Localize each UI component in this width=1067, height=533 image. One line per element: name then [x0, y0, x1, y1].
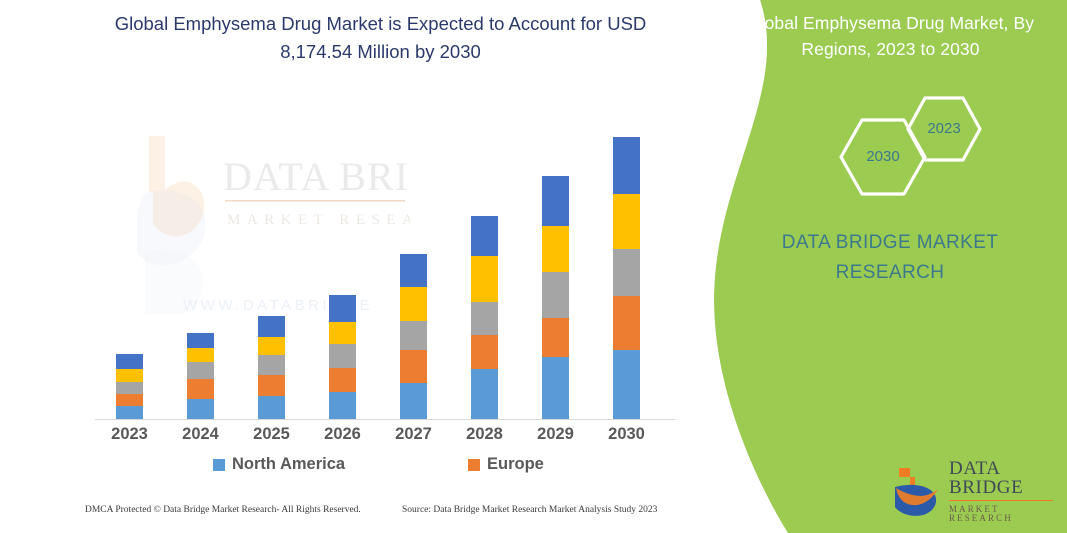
- bar-segment-2025-europe: [258, 375, 285, 396]
- data-bridge-b-icon: [893, 465, 945, 517]
- bar-2024[interactable]: [187, 333, 214, 419]
- bar-segment-2028-series-5: [471, 216, 498, 256]
- bar-segment-2028-series-4: [471, 256, 498, 301]
- bar-segment-2026-europe: [329, 368, 356, 392]
- page-title: Global Emphysema Drug Market is Expected…: [88, 10, 673, 66]
- hexagon-group: 2023 2030: [810, 95, 1030, 210]
- legend-item-europe[interactable]: Europe: [468, 455, 544, 474]
- bar-2029[interactable]: [542, 176, 569, 419]
- bar-2030[interactable]: [613, 137, 640, 419]
- x-axis-label-2028: 2028: [455, 425, 515, 444]
- bar-segment-2024-series-3: [187, 362, 214, 379]
- legend-label-north-america: North America: [232, 455, 345, 474]
- bar-2023[interactable]: [116, 354, 143, 419]
- bar-segment-2030-series-5: [613, 137, 640, 194]
- chart-plot-area: [95, 120, 675, 420]
- chart-legend: North America Europe: [95, 455, 675, 481]
- panel-brand-text: DATA BRIDGE MARKET RESEARCH: [735, 228, 1045, 288]
- bar-segment-2025-series-3: [258, 355, 285, 375]
- x-axis-line: [95, 419, 675, 420]
- data-bridge-logo: DATA BRIDGE MARKET RESEARCH: [893, 462, 1053, 520]
- bar-segment-2028-europe: [471, 335, 498, 369]
- footer-copyright: DMCA Protected © Data Bridge Market Rese…: [85, 505, 361, 515]
- bar-segment-2025-north-america: [258, 396, 285, 419]
- bar-2027[interactable]: [400, 254, 427, 419]
- hexagon-2030: 2030: [838, 117, 928, 197]
- x-axis-label-2023: 2023: [100, 425, 160, 444]
- bar-segment-2029-series-3: [542, 272, 569, 318]
- bar-segment-2029-europe: [542, 318, 569, 357]
- bar-segment-2027-north-america: [400, 383, 427, 419]
- hexagon-2030-label: 2030: [838, 148, 928, 165]
- stacked-bar-chart: [95, 120, 675, 420]
- bar-segment-2028-series-3: [471, 302, 498, 335]
- bar-segment-2030-north-america: [613, 350, 640, 419]
- x-axis-label-2030: 2030: [597, 425, 657, 444]
- bar-segment-2027-series-4: [400, 287, 427, 321]
- bar-segment-2030-series-3: [613, 249, 640, 295]
- x-axis-label-2025: 2025: [242, 425, 302, 444]
- bar-segment-2026-north-america: [329, 392, 356, 419]
- side-panel: Global Emphysema Drug Market, By Regions…: [700, 0, 1067, 533]
- bar-segment-2026-series-4: [329, 322, 356, 344]
- bar-segment-2029-series-4: [542, 226, 569, 271]
- bar-segment-2023-north-america: [116, 406, 143, 419]
- footer: DMCA Protected © Data Bridge Market Rese…: [0, 505, 700, 529]
- logo-line-2: MARKET RESEARCH: [949, 505, 1053, 523]
- panel-title: Global Emphysema Drug Market, By Regions…: [728, 10, 1053, 62]
- bar-segment-2024-europe: [187, 379, 214, 399]
- legend-label-europe: Europe: [487, 455, 544, 474]
- bar-segment-2024-series-5: [187, 333, 214, 348]
- bar-segment-2029-north-america: [542, 357, 569, 419]
- x-axis-label-2027: 2027: [384, 425, 444, 444]
- bar-segment-2023-series-4: [116, 369, 143, 382]
- bar-2025[interactable]: [258, 316, 285, 419]
- bar-segment-2025-series-4: [258, 337, 285, 355]
- bar-2026[interactable]: [329, 295, 356, 419]
- bar-segment-2027-europe: [400, 350, 427, 383]
- bar-segment-2023-series-3: [116, 382, 143, 394]
- footer-source: Source: Data Bridge Market Research Mark…: [402, 505, 657, 515]
- bar-segment-2030-europe: [613, 296, 640, 350]
- legend-swatch-north-america: [213, 459, 225, 471]
- x-axis-label-2029: 2029: [526, 425, 586, 444]
- legend-item-north-america[interactable]: North America: [213, 455, 345, 474]
- legend-swatch-europe: [468, 459, 480, 471]
- bar-segment-2028-north-america: [471, 369, 498, 419]
- bar-segment-2027-series-3: [400, 321, 427, 350]
- logo-line-1: DATA BRIDGE: [949, 459, 1053, 501]
- data-bridge-wordmark: DATA BRIDGE MARKET RESEARCH: [949, 459, 1053, 523]
- x-axis-label-2026: 2026: [313, 425, 373, 444]
- x-axis-labels: 20232024202520262027202820292030: [95, 425, 675, 449]
- bar-2028[interactable]: [471, 216, 498, 419]
- bar-segment-2023-series-5: [116, 354, 143, 369]
- bar-segment-2024-north-america: [187, 399, 214, 419]
- x-axis-label-2024: 2024: [171, 425, 231, 444]
- bar-segment-2026-series-3: [329, 344, 356, 368]
- bar-segment-2025-series-5: [258, 316, 285, 337]
- bar-segment-2030-series-4: [613, 194, 640, 249]
- bar-segment-2027-series-5: [400, 254, 427, 286]
- bar-segment-2024-series-4: [187, 348, 214, 362]
- bar-segment-2026-series-5: [329, 295, 356, 322]
- bar-segment-2023-europe: [116, 394, 143, 406]
- bar-segment-2029-series-5: [542, 176, 569, 226]
- infographic-root: Global Emphysema Drug Market is Expected…: [0, 0, 1067, 533]
